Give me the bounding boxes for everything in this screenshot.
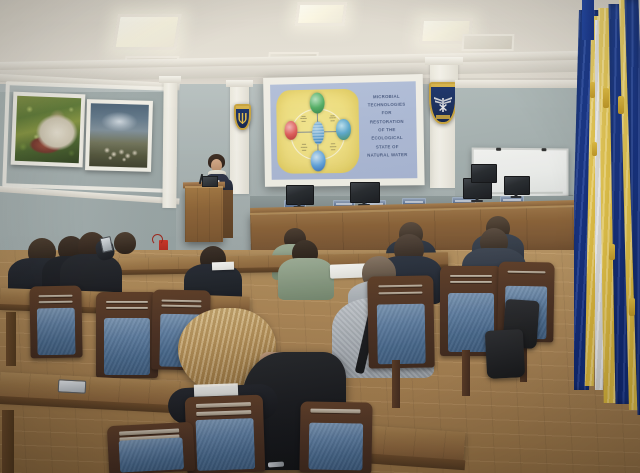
podium-laptop xyxy=(202,176,218,187)
chair-foreground-1-pad xyxy=(196,418,255,471)
presentation-slide: ▬▬▬▬▬▬▬ ▬▬▬▬▬▬▬ ▬▬▬▬▬▬▬ ▬▬▬▬▬▬▬ MICROBIA… xyxy=(270,81,417,180)
slide-label-3: ▬▬▬▬▬▬▬ xyxy=(297,144,312,152)
curtain-tassel-5 xyxy=(609,244,615,260)
ceiling-light-2 xyxy=(295,2,348,26)
chair-r3-2-slot-1 xyxy=(106,301,148,303)
slide-label-2: ▬▬▬▬▬▬▬ xyxy=(325,115,340,123)
chair-foreground-1-back xyxy=(185,395,266,473)
presidium-monitor-4 xyxy=(504,176,528,193)
projection-screen: ▬▬▬▬▬▬▬ ▬▬▬▬▬▬▬ ▬▬▬▬▬▬▬ ▬▬▬▬▬▬▬ MICROBIA… xyxy=(263,74,425,187)
student-row1-head-4 xyxy=(114,232,136,254)
painting-canvas-garden xyxy=(15,96,81,163)
pilaster-center-cap xyxy=(226,80,253,87)
chair-foreground-1-slot-2 xyxy=(196,410,251,416)
chair-r3-4-pad xyxy=(376,303,426,365)
chair-foreground-3-slot-1 xyxy=(311,409,361,414)
presidium-monitor-2 xyxy=(350,182,378,201)
curtain-tassel-2 xyxy=(603,88,609,108)
desk-row-4-leg xyxy=(2,410,14,473)
curtain-tassel-4 xyxy=(592,142,597,156)
slide-title: MICROBIAL TECHNOLOGIES FOR RESTORATION O… xyxy=(361,92,412,160)
ceiling-vent-3 xyxy=(462,34,515,51)
backpack-floor[interactable] xyxy=(485,329,525,379)
institution-crest xyxy=(429,82,457,124)
slide-node-left-red xyxy=(284,121,297,139)
screen-surface: ▬▬▬▬▬▬▬ ▬▬▬▬▬▬▬ ▬▬▬▬▬▬▬ ▬▬▬▬▬▬▬ MICROBIA… xyxy=(270,81,417,180)
chair-r3-4-back xyxy=(367,275,435,368)
chair-foreground-2-pad xyxy=(119,437,184,473)
winged-emblem-icon xyxy=(431,88,455,126)
pilaster-left-cap xyxy=(159,76,181,83)
notebook-on-desk[interactable] xyxy=(212,262,234,271)
chair-r3-2-slot-2 xyxy=(106,307,148,309)
garden-harvest-painting xyxy=(11,92,86,168)
chair-r3-1-pad xyxy=(37,307,76,355)
chair-r3-2-pad xyxy=(104,318,150,375)
curtain-assembly xyxy=(574,0,640,430)
chair-r3-2-back xyxy=(96,292,158,378)
pastoral-sheep-painting xyxy=(85,99,153,172)
chair-r3-5-leg xyxy=(462,350,470,396)
monitor-1-screen xyxy=(286,185,314,205)
chair-r3-4-slot-1 xyxy=(378,285,423,288)
lecture-hall-photo: ▬▬▬▬▬▬▬ ▬▬▬▬▬▬▬ ▬▬▬▬▬▬▬ ▬▬▬▬▬▬▬ MICROBIA… xyxy=(0,0,640,473)
chair-foreground-3[interactable] xyxy=(299,401,372,473)
presidium-monitor-5 xyxy=(471,164,495,181)
chair-foreground-2-back xyxy=(107,422,195,473)
ukraine-coat-of-arms xyxy=(234,104,251,130)
curtain-tassel-1 xyxy=(590,82,595,98)
pilaster-left xyxy=(162,80,177,208)
monitor-5-screen xyxy=(471,164,497,183)
pilaster-right-cap xyxy=(425,57,463,65)
tryzub-icon xyxy=(236,108,249,130)
chair-foreground-3-back xyxy=(299,401,372,473)
crest-top-band xyxy=(431,84,455,87)
chair-r3-4[interactable] xyxy=(367,275,435,368)
curtain-tassel-6 xyxy=(629,298,635,316)
right-wall-rail xyxy=(455,80,579,88)
chair-r3-2[interactable] xyxy=(96,292,158,378)
chair-r3-4-leg xyxy=(392,360,400,408)
chair-r3-3-slot-1 xyxy=(162,299,201,302)
phone-on-desk[interactable] xyxy=(58,379,87,393)
monitor-4-foot xyxy=(511,196,522,198)
slide-title-line-8: NATURAL WATER xyxy=(362,151,412,160)
podium-side xyxy=(223,190,233,238)
curtain-tassel-3 xyxy=(618,96,624,114)
chair-r3-1-slot-1 xyxy=(39,295,72,298)
chair-r3-1-slot-2 xyxy=(39,301,72,304)
chair-r3-5-slot-2 xyxy=(450,281,492,283)
slide-label-4: ▬▬▬▬▬▬▬ xyxy=(326,144,341,152)
whiteboard-front-clip-left xyxy=(496,148,501,151)
curtain-secondary-panel xyxy=(582,0,594,40)
chair-foreground-1-slot-1 xyxy=(196,402,251,408)
monitor-2-screen xyxy=(350,182,380,203)
painting-canvas-sheep xyxy=(89,103,149,168)
chair-foreground-2[interactable] xyxy=(107,422,195,473)
chair-r3-6-slot-1 xyxy=(507,270,545,273)
chair-r3-4-slot-2 xyxy=(378,291,423,294)
desk-row-3-leg xyxy=(6,312,16,366)
podium xyxy=(185,186,223,242)
chair-foreground-1[interactable] xyxy=(185,395,266,473)
chair-r3-1[interactable] xyxy=(29,286,82,359)
chair-foreground-3-pad xyxy=(309,423,363,471)
whiteboard-front-clip-right xyxy=(542,148,547,151)
slide-label-1: ▬▬▬▬▬▬▬ xyxy=(296,115,311,123)
fire-extinguisher-hose xyxy=(152,234,163,245)
ceiling-light-1 xyxy=(112,14,182,50)
chair-r3-5-slot-1 xyxy=(450,275,492,277)
presidium-monitor-1 xyxy=(286,185,312,203)
chair-r3-1-back xyxy=(29,286,82,359)
